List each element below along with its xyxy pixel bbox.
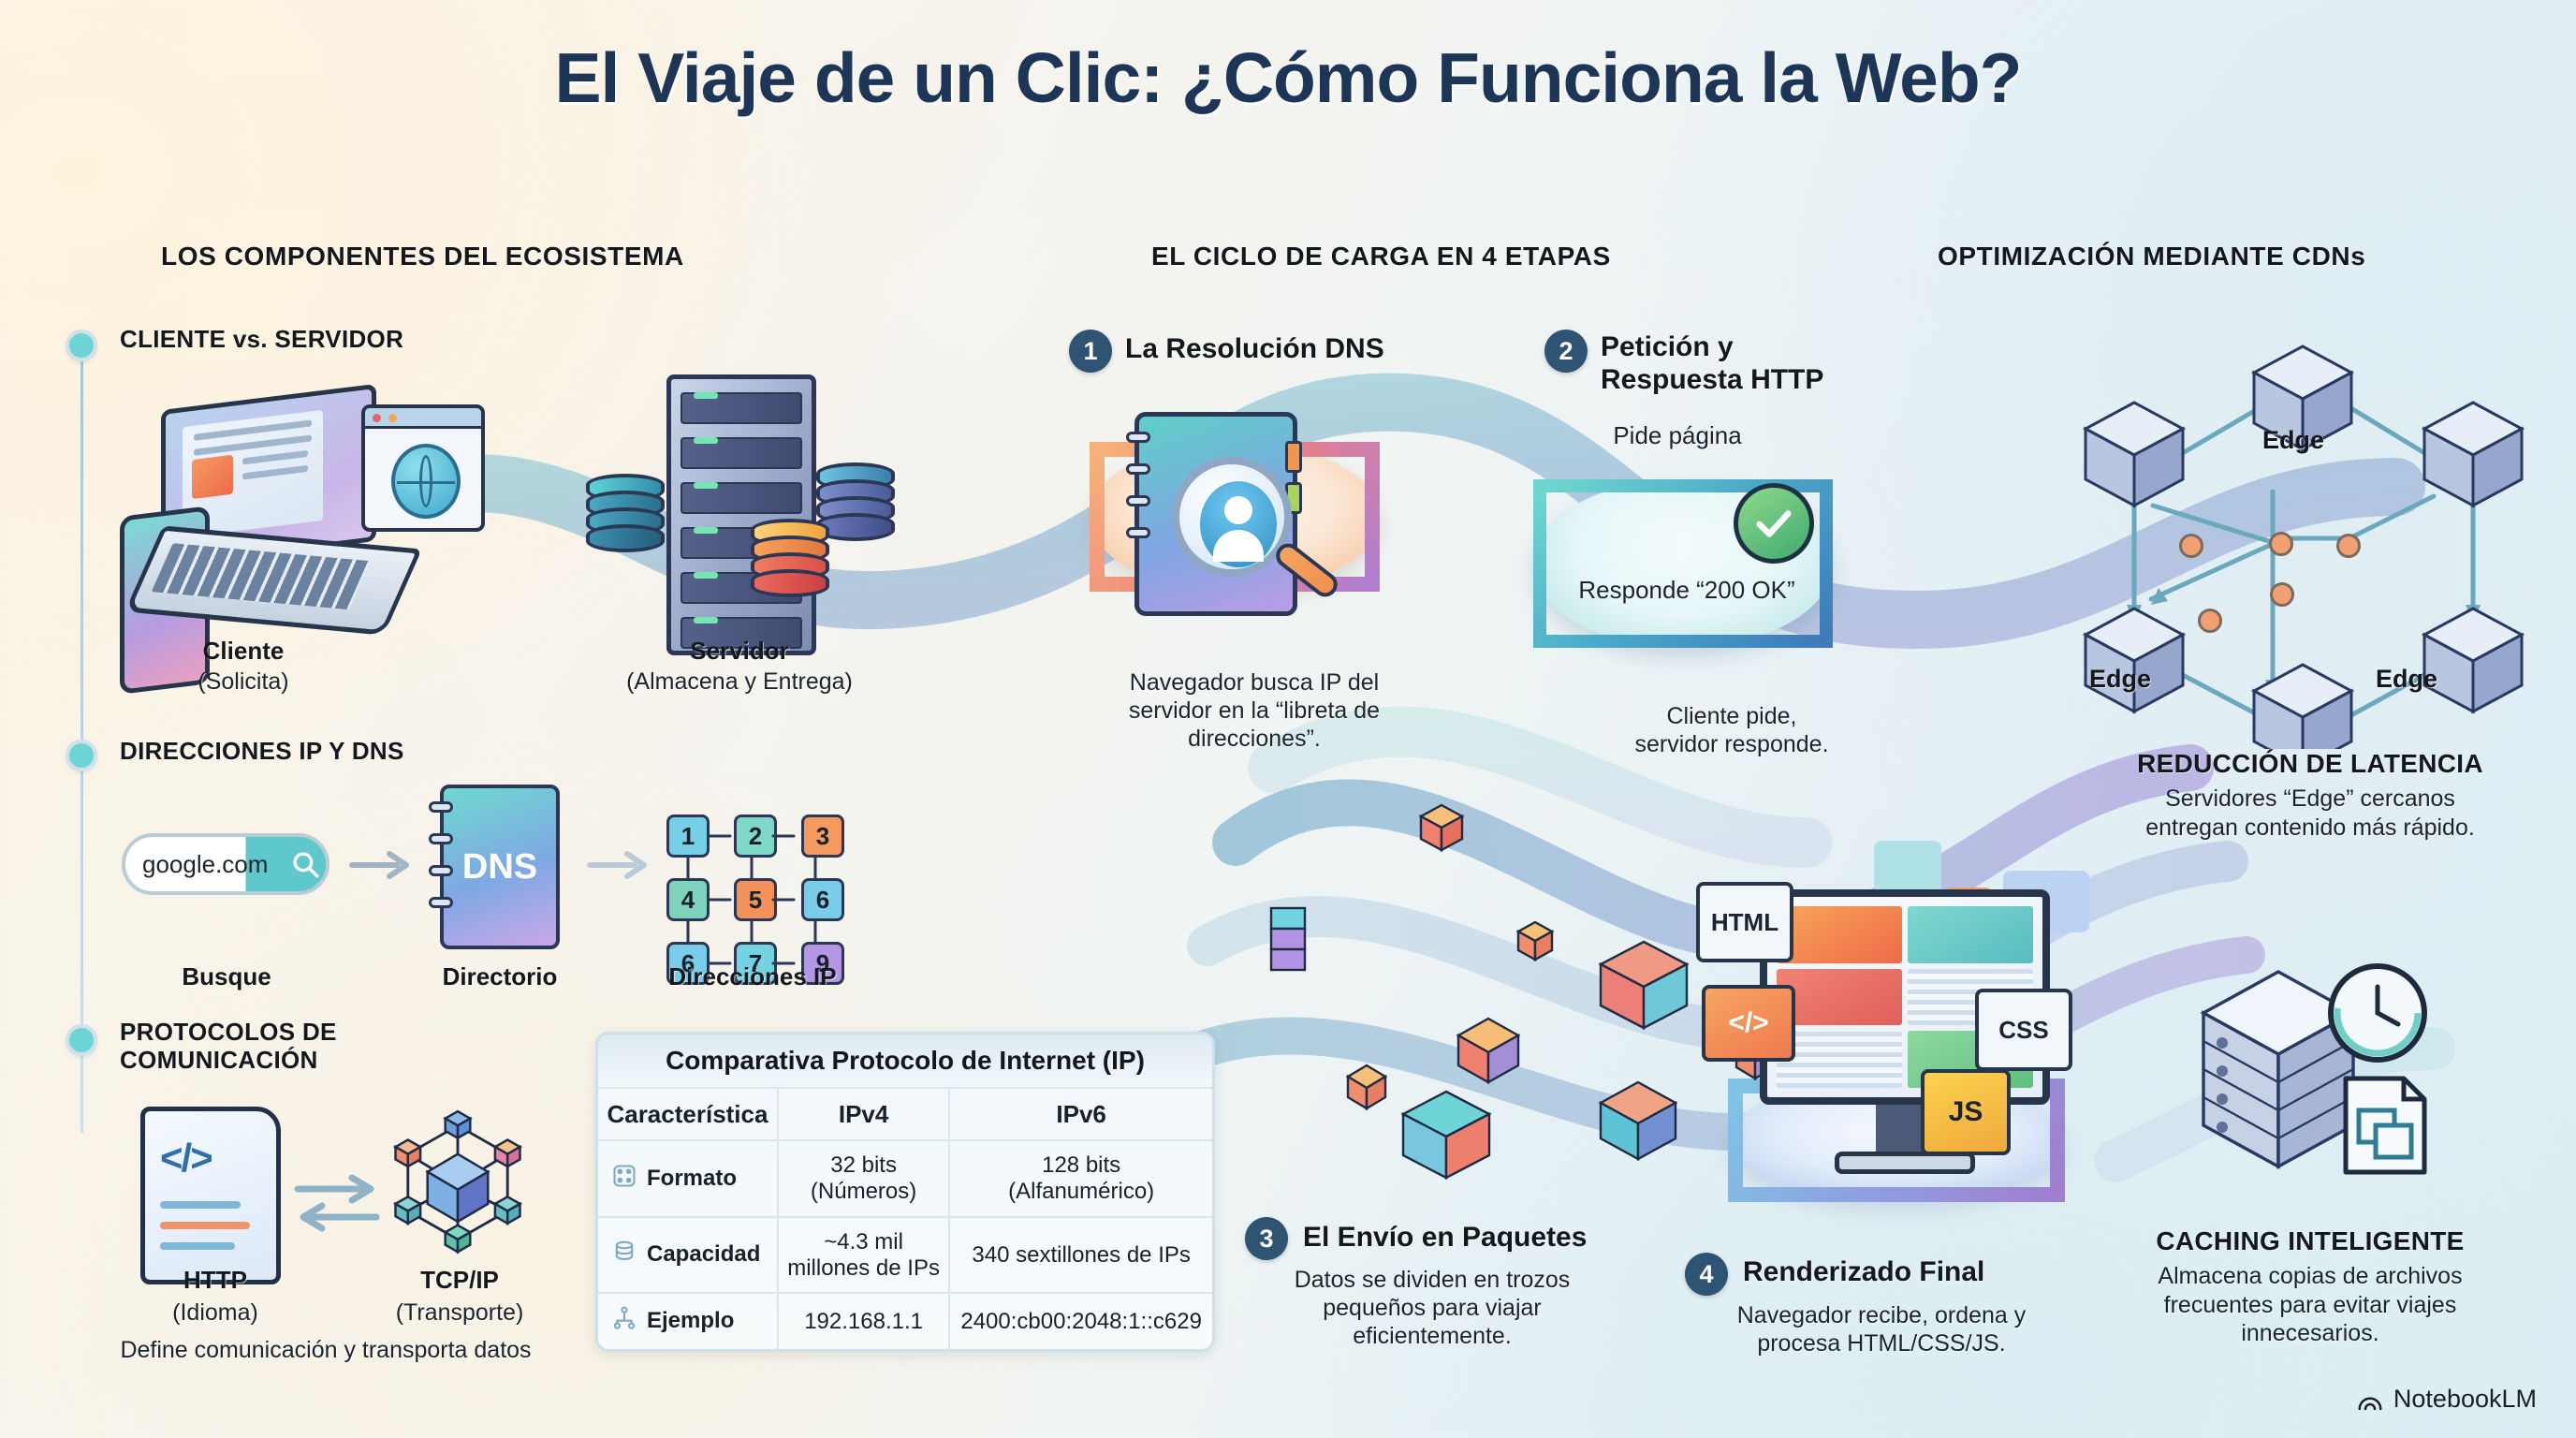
step-badge-3: 3 (1245, 1217, 1288, 1260)
th-feature: Característica (598, 1088, 778, 1140)
step-desc-2: Cliente pide,servidor responde. (1591, 702, 1872, 758)
cell-ipv6-formato: 128 bits(Alfanumérico) (949, 1140, 1212, 1217)
cell-ipv6-capacidad: 340 sextillones de IPs (949, 1217, 1212, 1294)
latency-text: Servidores “Edge” cercanosentregan conte… (2041, 785, 2576, 842)
step-badge-1: 1 (1069, 330, 1112, 373)
latency-block: REDUCCIÓN DE LATENCIA Servidores “Edge” … (2041, 749, 2576, 842)
exchange-arrows-icon (292, 1168, 382, 1234)
label-direcciones-ip: Direcciones IP (612, 962, 893, 991)
table-row: Formato 32 bits(Números) 128 bits(Alfanu… (598, 1140, 1212, 1217)
cdn-hop-dot (2179, 534, 2203, 558)
cdn-hop-dot (2336, 534, 2361, 558)
caching-block: CACHING INTELIGENTE Almacena copias de a… (2041, 1226, 2576, 1348)
cell-text: Formato (647, 1165, 737, 1190)
protocols-footnote: Define comunicación y transporta datos (66, 1337, 586, 1364)
step-badge-2: 2 (1544, 330, 1588, 373)
book-rings-icon (1126, 432, 1150, 559)
tcpip-network-icon (369, 1095, 547, 1273)
cdn-hop-dot (2198, 609, 2222, 633)
http-label: HTTP (131, 1266, 300, 1295)
cell-ipv6-ejemplo: 2400:cb00:2048:1::c629 (949, 1293, 1212, 1349)
timeline-dot-2 (66, 740, 97, 771)
step-title-4: Renderizado Final (1743, 1256, 1984, 1289)
step-title-2: Petición yRespuesta HTTP (1601, 331, 1910, 397)
tag-code-icon: </> (1702, 985, 1795, 1062)
tag-css: CSS (1975, 989, 2072, 1071)
globe-icon (391, 444, 461, 519)
page-title: El Viaje de un Clic: ¿Cómo Funciona la W… (0, 37, 2576, 118)
tcpip-label: TCP/IP (361, 1266, 558, 1295)
success-check-icon (1734, 483, 1814, 564)
table-row: Capacidad ~4.3 milmillones de IPs 340 se… (598, 1217, 1212, 1294)
infographic-canvas: El Viaje de un Clic: ¿Cómo Funciona la W… (0, 0, 2576, 1438)
step2-response-label: Responde “200 OK” (1546, 576, 1827, 605)
search-input[interactable]: google.com (122, 833, 329, 895)
table-row: Ejemplo 192.168.1.1 2400:cb00:2048:1::c6… (598, 1293, 1212, 1349)
column-header-components: LOS COMPONENTES DEL ECOSISTEMA (161, 242, 684, 271)
subheading-protocols: PROTOCOLOS DE COMUNICACIÓN (120, 1019, 391, 1074)
caching-heading: CACHING INTELIGENTE (2041, 1226, 2576, 1256)
step2-request-label: Pide página (1556, 421, 1799, 450)
cdn-hop-dot (2270, 582, 2294, 607)
step-title-1: La Resolución DNS (1125, 333, 1384, 366)
table-header-row: Característica IPv4 IPv6 (598, 1088, 1212, 1140)
chat-bubble-icon (1874, 841, 1941, 893)
notebooklm-logo-icon (2356, 1386, 2384, 1414)
ip-comparison-table: Comparativa Protocolo de Internet (IP) C… (595, 1032, 1215, 1352)
client-sublabel: (Solicita) (150, 668, 337, 696)
label-busque: Busque (142, 962, 311, 991)
cell-text: Capacidad (647, 1241, 760, 1267)
server-label: Servidor (580, 637, 899, 666)
row-feature-formato: Formato (598, 1140, 778, 1217)
client-device-illustration (120, 373, 504, 653)
subheading-client-server: CLIENTE vs. SERVIDOR (120, 326, 403, 354)
cdn-hop-dot (2269, 532, 2293, 556)
subheading-ip-dns: DIRECCIONES IP Y DNS (120, 738, 404, 766)
th-ipv4: IPv4 (778, 1088, 949, 1140)
cell-ipv4-formato: 32 bits(Números) (778, 1140, 949, 1217)
arrow-search-to-dns-icon (348, 843, 414, 888)
column-header-cycle: EL CICLO DE CARGA EN 4 ETAPAS (1151, 242, 1611, 271)
timeline-dot-1 (66, 330, 97, 361)
cell-text: Ejemplo (647, 1308, 734, 1333)
dns-label: DNS (462, 847, 537, 888)
protocols-heading-line1: PROTOCOLOS DE (120, 1018, 337, 1046)
edge-label-right: Edge (2376, 665, 2437, 694)
step-desc-1: Navegador busca IP delservidor en la “li… (1095, 668, 1413, 753)
step-title-3: El Envío en Paquetes (1303, 1222, 1587, 1255)
tag-html: HTML (1696, 882, 1793, 962)
http-sublabel: (Idioma) (131, 1299, 300, 1327)
chip-icon (611, 1163, 637, 1196)
table-title: Comparativa Protocolo de Internet (IP) (598, 1034, 1212, 1087)
browser-bubble-icon (361, 404, 485, 532)
server-illustration (577, 363, 914, 644)
caching-text: Almacena copias de archivosfrecuentes pa… (2041, 1262, 2576, 1348)
notebooklm-watermark: NotebookLM (2356, 1385, 2537, 1414)
cell-ipv4-capacidad: ~4.3 milmillones de IPs (778, 1217, 949, 1294)
cache-server-icon (2177, 946, 2458, 1208)
sitemap-icon (611, 1305, 637, 1338)
protocols-heading-line2: COMUNICACIÓN (120, 1046, 318, 1074)
client-label: Cliente (150, 637, 337, 666)
row-feature-ejemplo: Ejemplo (598, 1293, 778, 1349)
step-desc-3: Datos se dividen en trozospequeños para … (1245, 1266, 1619, 1350)
step-desc-4: Navegador recibe, ordena yprocesa HTML/C… (1676, 1301, 2087, 1357)
packet-cubes-illustration (1254, 777, 1835, 1180)
latency-heading: REDUCCIÓN DE LATENCIA (2041, 749, 2576, 779)
database-icon (611, 1239, 637, 1271)
timeline-dot-3 (66, 1024, 97, 1056)
tcpip-sublabel: (Transporte) (361, 1299, 558, 1327)
th-ipv6: IPv6 (949, 1088, 1212, 1140)
magnifier-icon (268, 848, 326, 880)
edge-label-left: Edge (2089, 665, 2151, 694)
magnifier-user-icon (1172, 457, 1292, 577)
row-feature-capacidad: Capacidad (598, 1217, 778, 1294)
edge-label-top: Edge (2262, 426, 2324, 455)
server-sublabel: (Almacena y Entrega) (580, 668, 899, 696)
label-directorio: Directorio (397, 962, 603, 991)
watermark-text: NotebookLM (2393, 1385, 2537, 1414)
arrow-dns-to-ips-icon (586, 843, 651, 888)
search-input-value: google.com (125, 850, 268, 879)
column-header-cdn: OPTIMIZACIÓN MEDIANTE CDNs (1938, 242, 2365, 271)
tag-js: JS (1921, 1069, 2011, 1155)
cell-ipv4-ejemplo: 192.168.1.1 (778, 1293, 949, 1349)
book-rings-icon (429, 801, 453, 929)
step-badge-4: 4 (1685, 1253, 1728, 1296)
http-scroll-icon: </> (140, 1107, 281, 1284)
dns-directory-icon: DNS (440, 785, 560, 949)
